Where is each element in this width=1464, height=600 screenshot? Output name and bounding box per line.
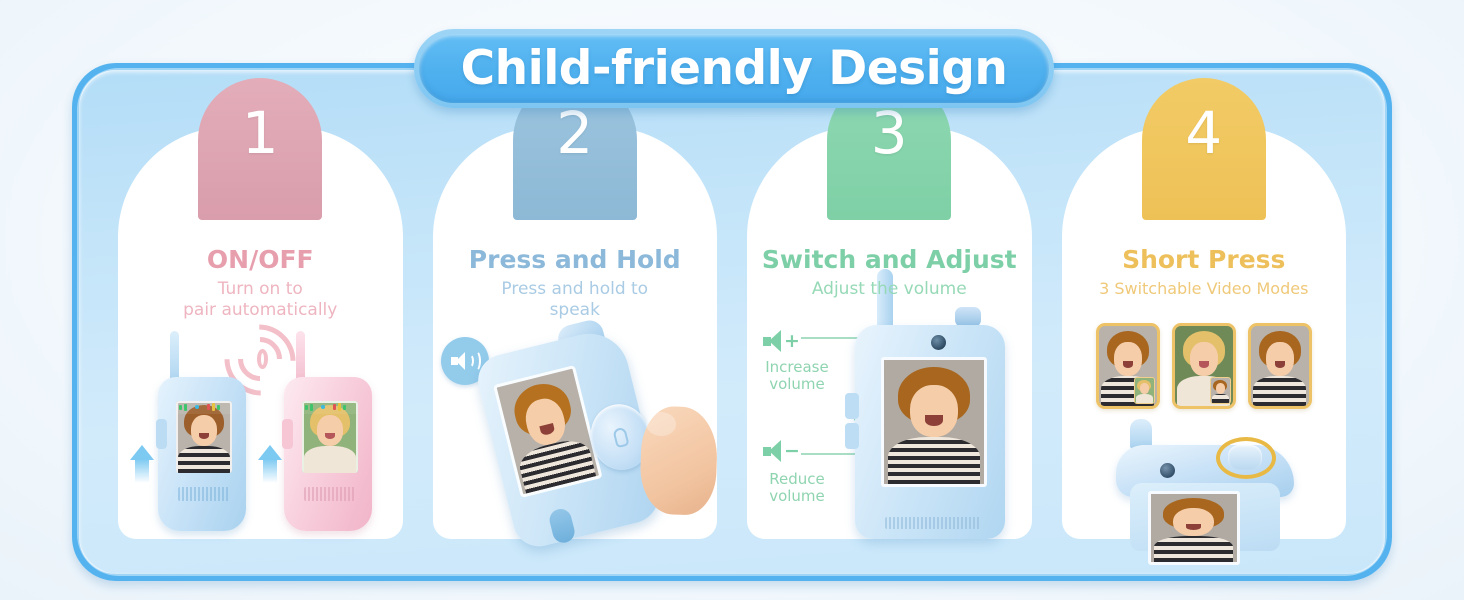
banner-title-inner: Child-friendly Design <box>419 34 1049 103</box>
step-number-badge-1: 1 <box>198 78 322 220</box>
step-title-4: Short Press <box>1062 245 1347 274</box>
video-mode-thumb-2[interactable] <box>1172 323 1236 409</box>
top-knob <box>955 307 981 327</box>
child-friendly-design-banner: Child-friendly Design 1 ON/OFF Turn on t… <box>0 0 1464 600</box>
banner-title-pill: Child-friendly Design <box>414 29 1054 108</box>
microphone-icon <box>611 426 628 448</box>
volume-up-sign: + <box>784 333 800 349</box>
volume-up-icon: + <box>763 329 797 353</box>
step-number-3: 3 <box>871 104 908 162</box>
screen-statusbar <box>302 401 358 414</box>
step-subtitle-3: Adjust the volume <box>747 279 1032 300</box>
walkie-talkie-top-view <box>1108 431 1318 547</box>
speaker-grille <box>304 487 356 501</box>
step-card-1: 1 ON/OFF Turn on to pair automatically <box>118 127 403 539</box>
video-mode-thumb-3[interactable] <box>1248 323 1312 409</box>
steps-row: 1 ON/OFF Turn on to pair automatically <box>72 63 1392 581</box>
step-title-1: ON/OFF <box>118 245 403 274</box>
volume-up-button[interactable] <box>845 393 859 419</box>
device-screen <box>1148 491 1240 565</box>
device-screen <box>302 401 358 473</box>
step-title-2: Press and Hold <box>433 245 718 274</box>
reduce-volume-label: Reduce volume <box>749 471 845 506</box>
walkie-talkie-pink <box>276 355 380 531</box>
step-title-3: Switch and Adjust <box>747 245 1032 274</box>
step-art-4 <box>1062 323 1347 539</box>
step-art-3: + Increase volume − Reduce volume <box>747 323 1032 539</box>
step-card-3: 3 Switch and Adjust Adjust the volume + … <box>747 127 1032 539</box>
increase-volume-callout: + <box>763 329 797 353</box>
side-button <box>282 419 293 449</box>
video-mode-thumb-1[interactable] <box>1096 323 1160 409</box>
step-card-2: 2 Press and Hold Press and hold to speak <box>433 127 718 539</box>
screen-statusbar <box>176 401 232 414</box>
screen-photo-boy <box>1151 494 1237 562</box>
volume-down-button[interactable] <box>845 423 859 449</box>
camera-lens-icon <box>1160 463 1175 478</box>
step-subtitle-2: Press and hold to speak <box>433 279 718 320</box>
camera-lens-icon <box>931 335 946 350</box>
side-button <box>156 419 167 449</box>
step-card-4: 4 Short Press 3 Switchable Video Modes <box>1062 127 1347 539</box>
step-art-1 <box>118 323 403 539</box>
highlight-ring <box>1216 437 1276 479</box>
picture-in-picture <box>1210 377 1231 404</box>
walkie-talkie-blue <box>150 355 254 531</box>
step-subtitle-1: Turn on to pair automatically <box>118 279 403 320</box>
step-number-2: 2 <box>556 104 593 162</box>
walkie-talkie-tilted <box>462 304 704 559</box>
picture-in-picture <box>1134 377 1155 404</box>
walkie-talkie-large <box>843 311 1023 539</box>
device-front-face <box>1130 483 1280 551</box>
device-screen <box>881 357 987 487</box>
volume-down-icon: − <box>763 439 797 463</box>
volume-down-sign: − <box>784 443 800 459</box>
reduce-volume-callout: − <box>763 439 797 463</box>
step-subtitle-4: 3 Switchable Video Modes <box>1062 279 1347 299</box>
thumb-photo-boy <box>1251 326 1309 406</box>
page-title: Child-friendly Design <box>461 41 1008 96</box>
step-number-badge-4: 4 <box>1142 78 1266 220</box>
screen-photo-boy <box>884 360 984 484</box>
video-mode-thumbnails <box>1062 323 1347 409</box>
speaker-grille <box>885 517 981 529</box>
step-number-4: 4 <box>1185 104 1222 162</box>
speaker-grille <box>178 487 230 501</box>
pip-photo-girl <box>1135 378 1154 403</box>
step-number-1: 1 <box>242 104 279 162</box>
device-screen <box>176 401 232 473</box>
step-art-2 <box>433 323 718 539</box>
pip-photo-boy <box>1211 378 1230 403</box>
finger-pressing <box>638 405 718 516</box>
